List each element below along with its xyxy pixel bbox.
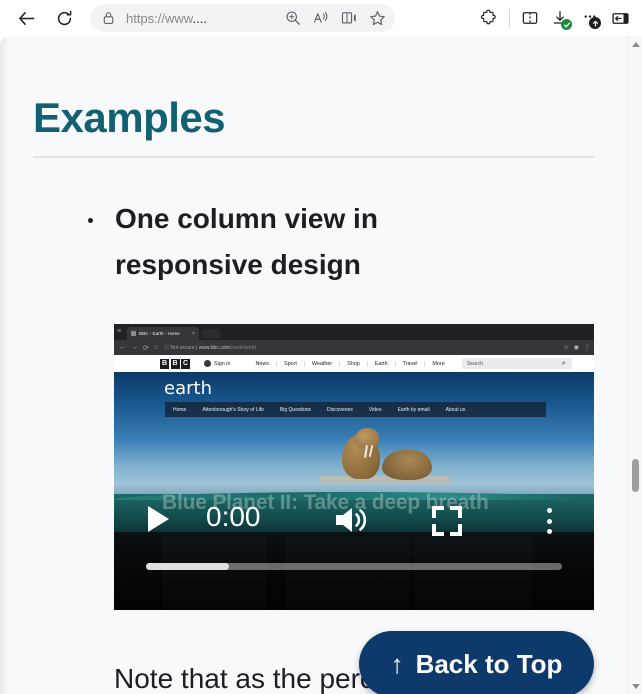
title-divider [33, 156, 594, 158]
embedded-menu-icon: ≡ [117, 328, 121, 335]
embedded-url-host: www.bbc.com [199, 345, 230, 351]
back-to-top-label: Back to Top [416, 649, 563, 680]
embedded-tab-title: BBC - Earth - Home [139, 331, 180, 336]
embedded-address-row: ← → ⟳ ⌂ ⓘ Not secure | www.bbc.com/earth… [114, 340, 594, 355]
address-bar-text: https://www.... [123, 11, 279, 26]
reload-button[interactable] [47, 3, 81, 33]
search-icon: ⌕ [562, 360, 566, 368]
back-to-top-button[interactable]: ↑ Back to Top [359, 631, 594, 694]
page-content: Examples One column view in responsive d… [0, 36, 627, 694]
embedded-star-icon: ☆ [563, 344, 568, 351]
list-item-label: One column view in responsive design [115, 196, 478, 289]
scroll-down-arrow[interactable] [628, 678, 642, 694]
collapse-sidebar-icon[interactable] [605, 3, 635, 33]
bbc-subnav-item: Earth by email [390, 407, 438, 413]
embedded-bbc-masthead: B B C Sign in News Sport Weather Shop Ea… [114, 355, 594, 372]
embedded-toolbar-right: ☆ ◉ ⋮ [563, 344, 590, 351]
embedded-security-label: Not secure [171, 345, 195, 351]
bbc-subnav-item: Attenborough's Story of Life [194, 407, 272, 413]
immersive-reader-icon[interactable] [335, 5, 363, 31]
split-screen-icon[interactable] [515, 3, 545, 33]
embedded-tab-strip: ≡ BBC - Earth - Home × [114, 324, 594, 340]
bbc-logo-letter: B [160, 359, 169, 369]
reload-icon [55, 9, 74, 28]
video-seek-progress [146, 563, 229, 570]
embedded-tab-close-icon: × [192, 331, 195, 337]
fullscreen-icon[interactable] [432, 506, 462, 536]
embedded-reload-icon: ⟳ [143, 344, 149, 352]
downloads-icon[interactable] [545, 3, 575, 33]
video-player[interactable]: ≡ BBC - Earth - Home × ← → ⟳ ⌂ ⓘ Not sec… [114, 324, 594, 610]
download-complete-check-badge [561, 19, 572, 30]
embedded-tab-favicon [131, 331, 136, 336]
bbc-earth-subnav: Home Attenborough's Story of Life Big Qu… [165, 402, 546, 417]
video-controls: 0:00 [114, 492, 594, 548]
zoom-in-icon[interactable] [279, 5, 307, 31]
bbc-nav-item: More [424, 361, 451, 367]
back-button[interactable] [9, 3, 43, 33]
bbc-search-placeholder: Search [467, 361, 483, 367]
back-arrow-icon [17, 9, 36, 28]
list-item: One column view in responsive design [88, 196, 478, 289]
triangle-down-icon [632, 684, 640, 689]
embedded-security-icon: ⓘ [164, 345, 169, 351]
embedded-url-text: ⓘ Not secure | www.bbc.com/earth/world [164, 344, 256, 351]
url-rest: .... [192, 11, 206, 26]
bbc-account-icon [204, 360, 211, 367]
embedded-new-tab-button [202, 329, 220, 338]
bbc-top-nav: News Sport Weather Shop Earth Travel Mor… [248, 361, 451, 367]
triangle-up-icon [632, 42, 640, 47]
bbc-earth-wordmark: earth [164, 378, 212, 399]
settings-and-more-button[interactable] [575, 3, 605, 33]
play-icon[interactable] [148, 506, 169, 532]
extensions-puzzle-icon[interactable] [474, 3, 504, 33]
ice-floe [319, 476, 449, 484]
bbc-subnav-item: Discoveries [319, 407, 361, 413]
bbc-nav-item: Earth [367, 361, 395, 367]
bbc-subnav-item: About us [438, 407, 474, 413]
bbc-sign-in: Sign in [204, 360, 230, 367]
bbc-subnav-item: Video [361, 407, 390, 413]
favorite-star-icon[interactable] [363, 5, 391, 31]
arrow-up-icon: ↑ [391, 651, 404, 677]
walrus-second [382, 450, 432, 480]
embedded-back-icon: ← [119, 344, 126, 351]
toolbar-divider [509, 9, 510, 27]
page-title: Examples [33, 94, 225, 142]
bbc-sign-in-label: Sign in [214, 361, 230, 367]
embedded-forward-icon: → [131, 344, 138, 351]
kebab-menu-icon[interactable] [538, 506, 560, 536]
bullet-marker-icon [88, 218, 93, 223]
bbc-subnav-item: Big Questions [272, 407, 319, 413]
scroll-up-arrow[interactable] [628, 36, 642, 52]
update-available-badge [589, 17, 601, 29]
embedded-url-path: /earth/world [230, 345, 256, 351]
embedded-tab: BBC - Earth - Home × [127, 327, 199, 340]
address-bar[interactable]: https://www.... [90, 4, 395, 32]
embedded-profile-icon: ◉ [574, 344, 579, 351]
bbc-nav-item: Shop [339, 361, 367, 367]
bbc-nav-item: News [248, 361, 275, 367]
scrollbar-thumb[interactable] [632, 459, 639, 492]
bbc-nav-item: Travel [395, 361, 425, 367]
volume-on-icon[interactable] [332, 504, 376, 536]
video-current-time: 0:00 [206, 501, 261, 533]
read-aloud-icon[interactable] [307, 5, 335, 31]
lock-icon [93, 5, 123, 31]
bbc-search-box: Search ⌕ [462, 358, 572, 369]
embedded-home-icon: ⌂ [154, 344, 158, 351]
browser-toolbar: https://www.... [0, 0, 642, 36]
bbc-nav-item: Weather [304, 361, 339, 367]
page-viewport: Examples One column view in responsive d… [0, 36, 642, 694]
url-scheme: https://www [126, 11, 192, 26]
vertical-scrollbar[interactable] [627, 36, 642, 694]
bbc-subnav-item: Home [165, 407, 194, 413]
bbc-logo: B B C [160, 359, 190, 369]
embedded-kebab-icon: ⋮ [584, 344, 590, 351]
bbc-logo-letter: B [171, 359, 180, 369]
toolbar-right-group [474, 3, 642, 33]
bbc-nav-item: Sport [276, 361, 304, 367]
bbc-logo-letter: C [181, 359, 190, 369]
video-seek-bar[interactable] [146, 563, 562, 570]
